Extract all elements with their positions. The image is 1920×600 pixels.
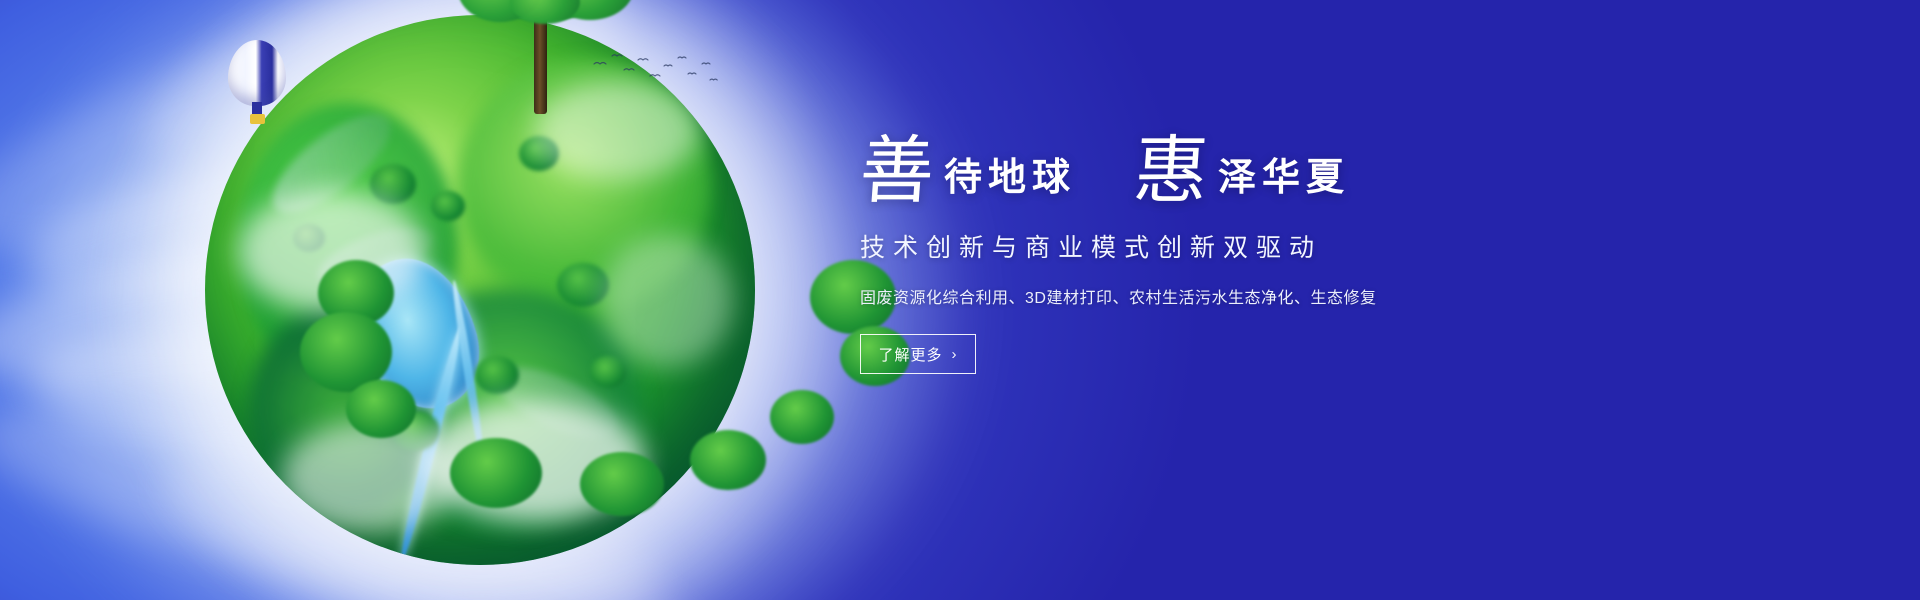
cta-row: 了解更多 › [860, 308, 1500, 374]
bird-flock-icon [590, 50, 720, 90]
limb-tree [346, 380, 416, 438]
headline-part1-small: 待地球 [944, 158, 1076, 206]
tree-clump [370, 164, 416, 204]
learn-more-label: 了解更多 [878, 344, 942, 365]
learn-more-button[interactable]: 了解更多 › [860, 334, 976, 374]
balloon-envelope [228, 40, 286, 106]
headline-part1-large: 善 [858, 136, 937, 206]
mist [601, 235, 733, 367]
balloon-basket [250, 114, 265, 124]
headline: 善 待地球 惠 泽华夏 [860, 120, 1500, 206]
limb-tree [770, 390, 834, 444]
limb-tree [580, 452, 664, 516]
chevron-right-icon: › [952, 347, 958, 362]
limb-tree [450, 438, 542, 508]
hero-content: 善 待地球 惠 泽华夏 技术创新与商业模式创新双驱动 固废资源化综合利用、3D建… [860, 120, 1500, 374]
headline-part2-small: 泽华夏 [1218, 158, 1350, 206]
tree-clump [590, 356, 626, 388]
limb-tree [690, 430, 766, 490]
tree-clump [475, 356, 519, 394]
headline-part2-large: 惠 [1132, 136, 1211, 206]
description: 固废资源化综合利用、3D建材打印、农村生活污水生态净化、生态修复 [860, 284, 1500, 308]
hero-banner: 善 待地球 惠 泽华夏 技术创新与商业模式创新双驱动 固废资源化综合利用、3D建… [0, 0, 1920, 600]
tree-clump [431, 191, 465, 221]
mist [282, 422, 458, 532]
subtitle: 技术创新与商业模式创新双驱动 [860, 228, 1500, 264]
hot-air-balloon-icon [228, 40, 286, 130]
tree-crown [510, 0, 580, 24]
